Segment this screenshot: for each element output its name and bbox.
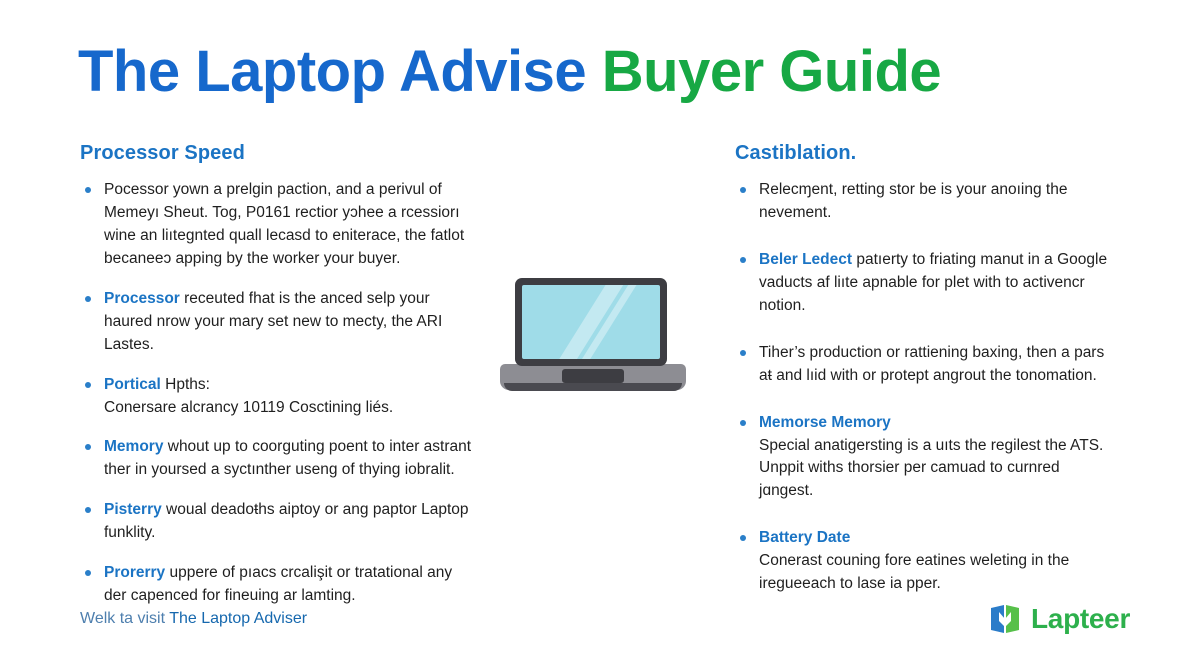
footer-link[interactable]: Welk ta visit The Laptop Adviser (80, 610, 307, 628)
infographic-page: The Laptop Advise Buyer Guide Processor … (0, 0, 1184, 672)
list-item: Portical Hpths: Conersare alcrancy 10119… (80, 374, 472, 420)
bullet-lead: Portical (104, 376, 161, 393)
footer-link-brand: The Laptop Adviser (169, 610, 307, 627)
brand-logo-text: Lapteer (1031, 603, 1130, 635)
list-item: Memory whout up to coorguting poent to i… (80, 436, 472, 482)
list-item: Beler Ledect patıerty to friating manut … (735, 249, 1117, 318)
left-column-heading: Processor Speed (80, 142, 472, 165)
right-column-heading: Castiblation. (735, 142, 1117, 165)
list-item: Prorerry uppere of pıacs crcalişit or tr… (80, 562, 472, 608)
list-item: Pocessor yown a prelgin paction, and a p… (80, 179, 472, 271)
left-column-bullet-list: Pocessor yown a prelgin paction, and a p… (80, 179, 472, 608)
list-item: Processor receuted fhat is the anced sel… (80, 288, 472, 357)
page-title-blue-part: The Laptop Advise (78, 39, 602, 104)
right-column-bullet-list: Relecɱent, retting stor be is your anoıi… (735, 179, 1117, 596)
brand-logo[interactable]: Lapteer (988, 602, 1130, 636)
page-title: The Laptop Advise Buyer Guide (78, 40, 941, 104)
list-item: Pisterry woual deadoŧhs aiptoy or ang pa… (80, 499, 472, 545)
right-column: Castiblation. Relecɱent, retting stor be… (735, 142, 1117, 620)
list-item: Battery Date Conerast couning fore eatin… (735, 527, 1117, 596)
bullet-sub-line: Special anatigersting is a uıts the regi… (759, 435, 1117, 504)
page-title-green-part: Buyer Guide (602, 39, 941, 104)
bullet-body: Pocessor yown a prelgin paction, and a p… (104, 181, 464, 267)
bullet-lead: Pisterry (104, 501, 162, 518)
book-logo-icon (988, 602, 1022, 636)
bullet-lead: Processor (104, 290, 180, 307)
laptop-screen (522, 285, 660, 359)
list-item: Tiher’s production or rattiening baxing,… (735, 342, 1117, 388)
bullet-lead: Prorerry (104, 564, 165, 581)
bullet-sub-line: Conerast couning fore eatines weleting i… (759, 550, 1117, 596)
laptop-base-shadow (504, 383, 682, 391)
bullet-lead: Memorse Memory (759, 414, 891, 431)
bullet-lead: Memory (104, 438, 163, 455)
bullet-body: Tiher’s production or rattiening baxing,… (759, 344, 1104, 384)
bullet-lead: Battery Date (759, 529, 850, 546)
left-column: Processor Speed Pocessor yown a prelgin … (80, 142, 472, 625)
bullet-body: Relecɱent, retting stor be is your anoıi… (759, 181, 1067, 221)
bullet-body: Hpths: (161, 376, 210, 393)
laptop-lid (515, 278, 667, 366)
laptop-illustration (500, 278, 686, 400)
bullet-sub-line: Conersare alcrancy 10119 Cosctining liés… (104, 397, 472, 420)
list-item: Relecɱent, retting stor be is your anoıi… (735, 179, 1117, 225)
footer-link-prefix: Welk ta visit (80, 610, 169, 627)
bullet-lead: Beler Ledect (759, 251, 852, 268)
laptop-trackpad (562, 369, 624, 383)
list-item: Memorse Memory Special anatigersting is … (735, 412, 1117, 504)
